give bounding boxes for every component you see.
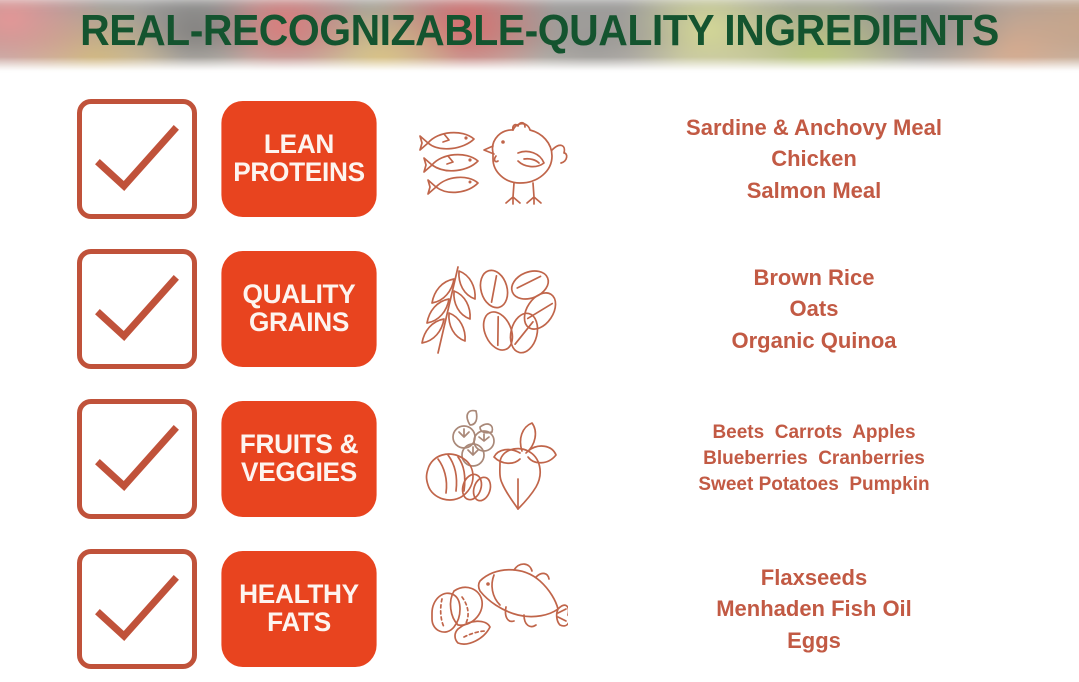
- ingredient-row-lean-proteins: LEAN PROTEINS: [0, 95, 1079, 223]
- pill-line-1: QUALITY: [242, 281, 355, 309]
- sweet-potato-berries-beet-icon: [418, 407, 568, 512]
- pill-line-2: VEGGIES: [239, 459, 357, 487]
- ingredient-item: Oats: [585, 293, 1043, 324]
- pill-cell: HEALTHY FATS: [197, 551, 400, 667]
- ingredient-item: Sweet Potatoes Pumpkin: [585, 472, 1043, 498]
- category-pill-healthy-fats[interactable]: HEALTHY FATS: [221, 551, 376, 667]
- pill-cell: QUALITY GRAINS: [197, 251, 400, 367]
- pill-line-2: GRAINS: [242, 309, 355, 337]
- pill-line-2: FATS: [239, 609, 359, 637]
- ingredient-item: Blueberries Cranberries: [585, 446, 1043, 472]
- grain-stalk-and-kernels-icon: [418, 259, 568, 359]
- ingredient-list-quality-grains: Brown Rice Oats Organic Quinoa: [585, 262, 1079, 356]
- ingredient-row-healthy-fats: HEALTHY FATS: [0, 545, 1079, 673]
- header-fade-overlay: [0, 57, 1079, 73]
- ingredient-list-healthy-fats: Flaxseeds Menhaden Fish Oil Eggs: [585, 562, 1079, 656]
- ingredient-item: Salmon Meal: [585, 175, 1043, 206]
- ingredient-list-fruits-veggies: Beets Carrots Apples Blueberries Cranber…: [585, 420, 1079, 499]
- category-pill-lean-proteins[interactable]: LEAN PROTEINS: [221, 101, 376, 217]
- checkbox-cell: [0, 99, 197, 219]
- ingredient-item: Beets Carrots Apples: [585, 420, 1043, 446]
- checkmark-icon: [94, 424, 180, 494]
- ingredient-item: Organic Quinoa: [585, 325, 1043, 356]
- flaxseeds-and-fish-icon: [418, 557, 568, 662]
- illustration-cell: [400, 259, 585, 359]
- ingredient-row-fruits-veggies: FRUITS & VEGGIES: [0, 395, 1079, 523]
- illustration-cell: [400, 109, 585, 209]
- checkmark-icon: [94, 124, 180, 194]
- pill-line-1: LEAN: [233, 131, 365, 159]
- category-pill-fruits-veggies[interactable]: FRUITS & VEGGIES: [221, 401, 376, 517]
- pill-cell: FRUITS & VEGGIES: [197, 401, 400, 517]
- pill-line-1: HEALTHY: [239, 581, 359, 609]
- checkbox-lean-proteins[interactable]: [77, 99, 197, 219]
- ingredient-item: Flaxseeds: [585, 562, 1043, 593]
- category-pill-quality-grains[interactable]: QUALITY GRAINS: [221, 251, 376, 367]
- checkbox-cell: [0, 549, 197, 669]
- ingredient-item: Menhaden Fish Oil: [585, 593, 1043, 624]
- ingredient-item: Chicken: [585, 143, 1043, 174]
- ingredient-item: Eggs: [585, 625, 1043, 656]
- checkbox-healthy-fats[interactable]: [77, 549, 197, 669]
- checkbox-quality-grains[interactable]: [77, 249, 197, 369]
- checkbox-cell: [0, 249, 197, 369]
- ingredient-rows: LEAN PROTEINS: [0, 73, 1079, 673]
- pill-line-2: PROTEINS: [233, 159, 365, 187]
- ingredient-item: Sardine & Anchovy Meal: [585, 112, 1043, 143]
- checkmark-icon: [94, 274, 180, 344]
- ingredient-row-quality-grains: QUALITY GRAINS: [0, 245, 1079, 373]
- pill-line-1: FRUITS &: [239, 431, 357, 459]
- ingredient-list-lean-proteins: Sardine & Anchovy Meal Chicken Salmon Me…: [585, 112, 1079, 206]
- checkbox-fruits-veggies[interactable]: [77, 399, 197, 519]
- checkmark-icon: [94, 574, 180, 644]
- ingredient-item: Brown Rice: [585, 262, 1043, 293]
- illustration-cell: [400, 407, 585, 512]
- header-banner: REAL-RECOGNIZABLE-QUALITY INGREDIENTS: [0, 0, 1079, 73]
- pill-cell: LEAN PROTEINS: [197, 101, 400, 217]
- page-title: REAL-RECOGNIZABLE-QUALITY INGREDIENTS: [38, 6, 1041, 56]
- checkbox-cell: [0, 399, 197, 519]
- fish-and-chicken-icon: [418, 109, 568, 209]
- illustration-cell: [400, 557, 585, 662]
